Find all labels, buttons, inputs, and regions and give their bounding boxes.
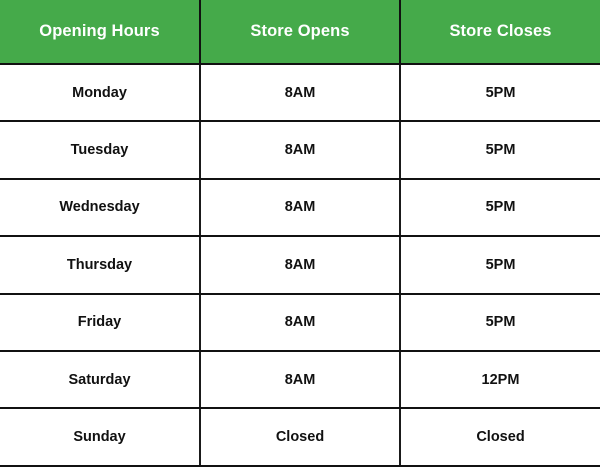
table-row: Tuesday 8AM 5PM	[0, 121, 600, 178]
cell-day: Thursday	[0, 236, 200, 293]
cell-closes: 5PM	[400, 179, 600, 236]
table-row: Sunday Closed Closed	[0, 408, 600, 465]
column-header-opening-hours: Opening Hours	[0, 0, 200, 64]
table-row: Wednesday 8AM 5PM	[0, 179, 600, 236]
cell-day: Monday	[0, 64, 200, 121]
table-row: Thursday 8AM 5PM	[0, 236, 600, 293]
table-row: Friday 8AM 5PM	[0, 294, 600, 351]
cell-day: Saturday	[0, 351, 200, 408]
cell-opens: Closed	[200, 408, 400, 465]
cell-closes: 5PM	[400, 294, 600, 351]
cell-day: Tuesday	[0, 121, 200, 178]
cell-opens: 8AM	[200, 236, 400, 293]
cell-closes: Closed	[400, 408, 600, 465]
cell-opens: 8AM	[200, 121, 400, 178]
cell-day: Friday	[0, 294, 200, 351]
cell-opens: 8AM	[200, 179, 400, 236]
cell-closes: 5PM	[400, 64, 600, 121]
cell-day: Wednesday	[0, 179, 200, 236]
opening-hours-table: Opening Hours Store Opens Store Closes M…	[0, 0, 600, 467]
column-header-store-opens: Store Opens	[200, 0, 400, 64]
cell-opens: 8AM	[200, 294, 400, 351]
cell-opens: 8AM	[200, 351, 400, 408]
table-row: Saturday 8AM 12PM	[0, 351, 600, 408]
header-row: Opening Hours Store Opens Store Closes	[0, 0, 600, 64]
table-row: Monday 8AM 5PM	[0, 64, 600, 121]
cell-opens: 8AM	[200, 64, 400, 121]
table-body: Monday 8AM 5PM Tuesday 8AM 5PM Wednesday…	[0, 64, 600, 466]
cell-day: Sunday	[0, 408, 200, 465]
cell-closes: 5PM	[400, 236, 600, 293]
cell-closes: 5PM	[400, 121, 600, 178]
table-header: Opening Hours Store Opens Store Closes	[0, 0, 600, 64]
cell-closes: 12PM	[400, 351, 600, 408]
column-header-store-closes: Store Closes	[400, 0, 600, 64]
